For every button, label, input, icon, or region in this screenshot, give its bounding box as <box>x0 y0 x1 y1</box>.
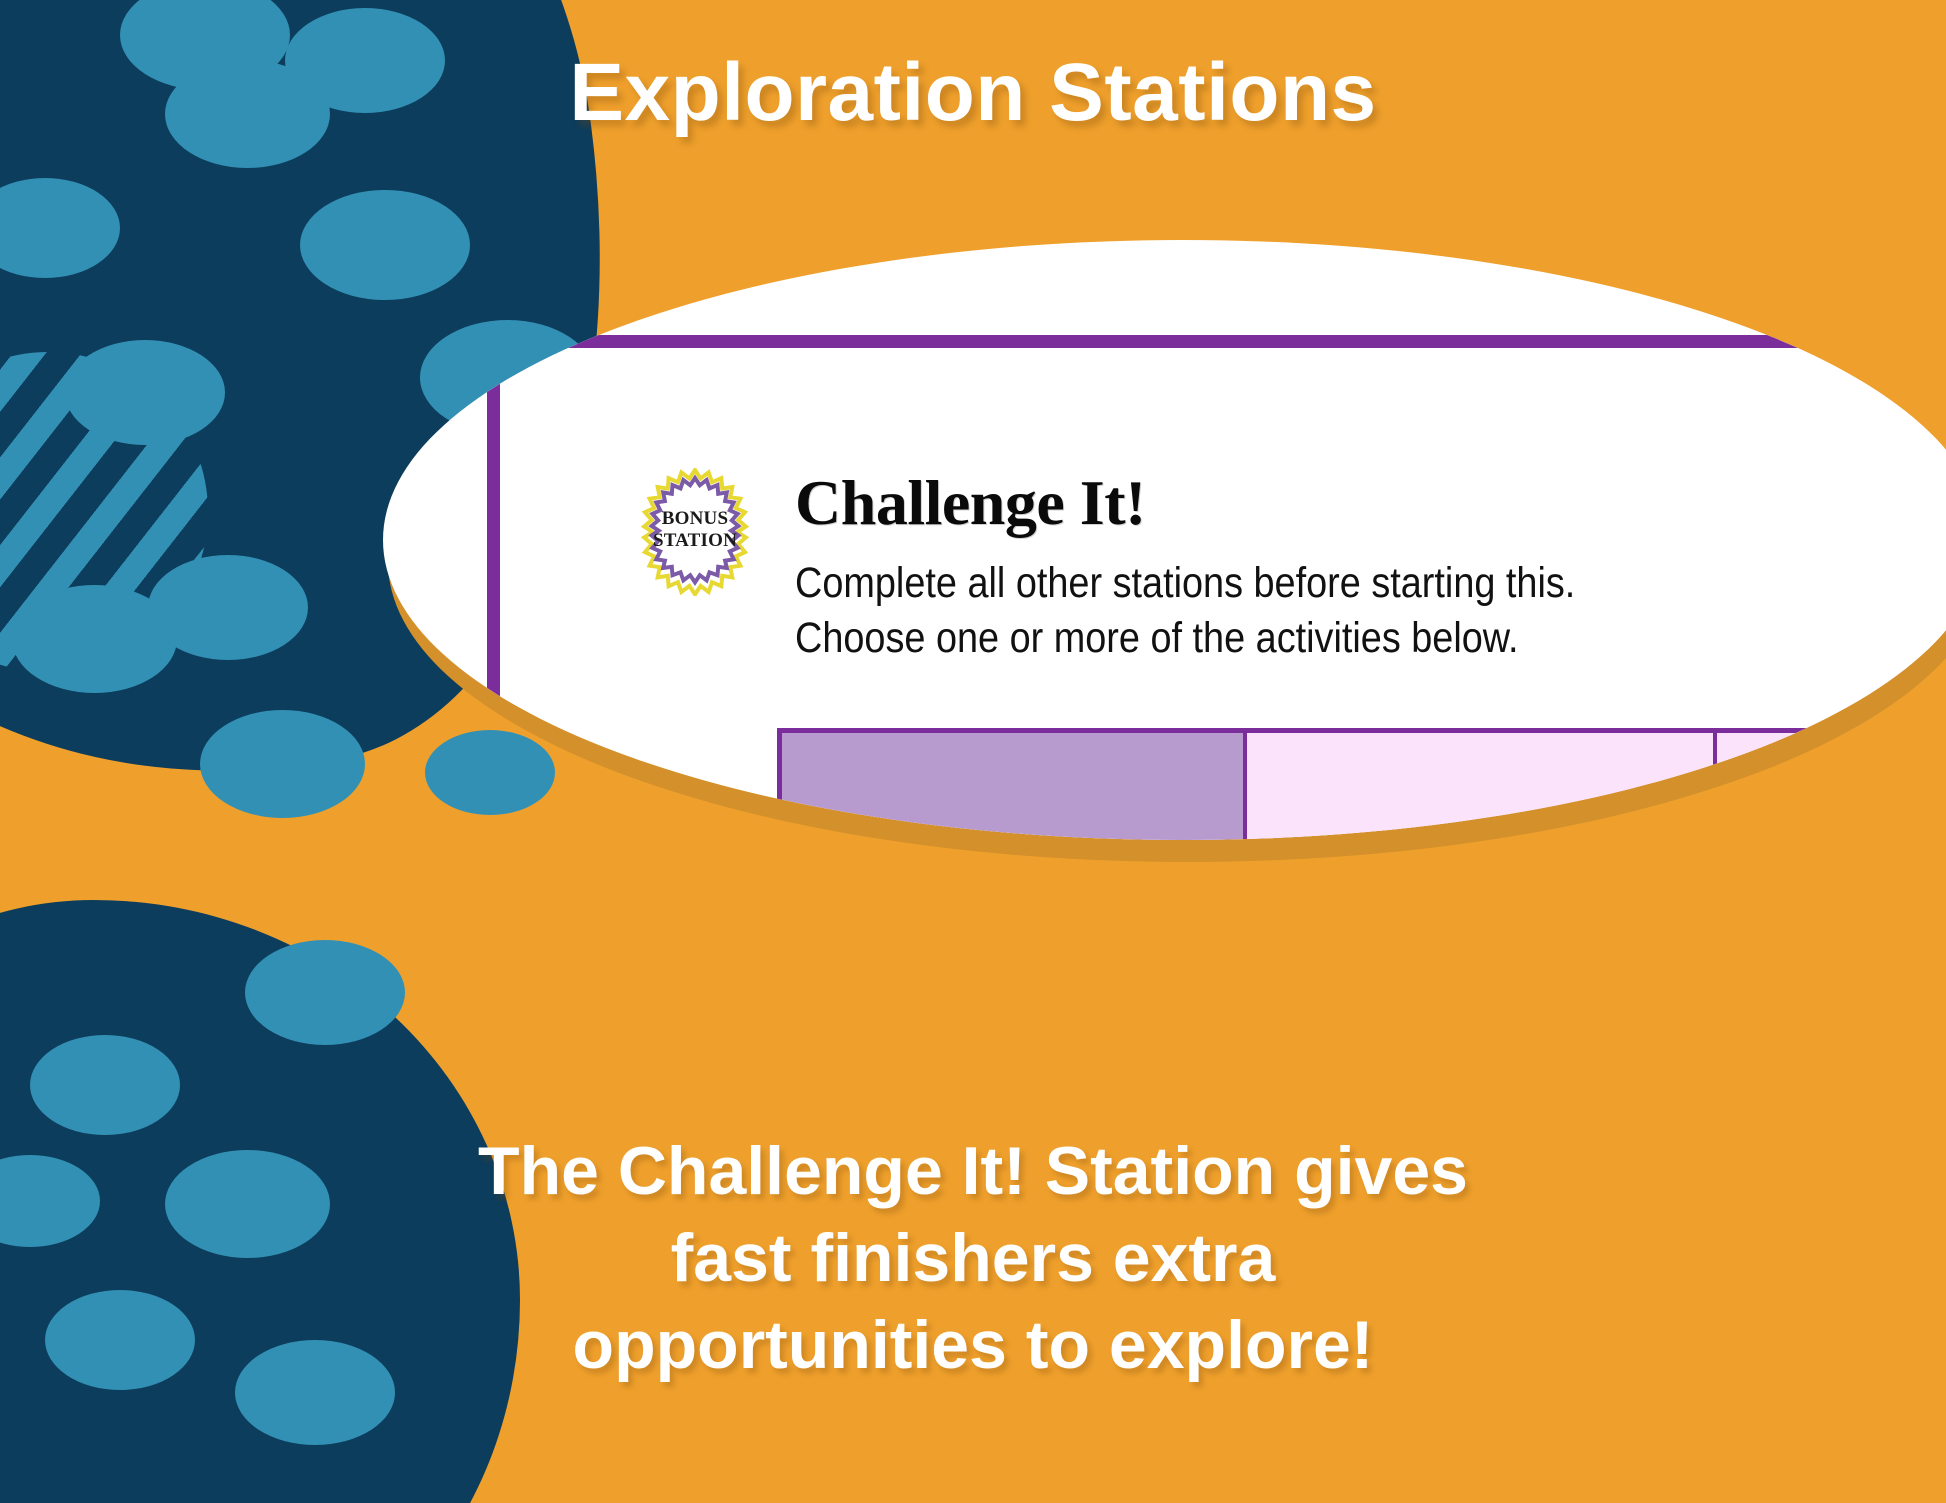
bonus-station-badge-icon: BONUS STATION <box>631 468 759 596</box>
decorative-dot <box>65 340 225 445</box>
worksheet-instructions: Complete all other stations before start… <box>795 556 1575 666</box>
worksheet-ellipse-mask: BONUS STATION Challenge It! Complete all… <box>383 240 1946 840</box>
decorative-dot <box>245 940 405 1045</box>
worksheet-content: BONUS STATION Challenge It! Complete all… <box>617 456 1946 840</box>
page-title: Exploration Stations <box>0 48 1946 138</box>
activity-button-row: PUZZLE FLASHCARDS <box>777 728 1946 840</box>
decorative-dot <box>235 1340 395 1445</box>
worksheet-card: BONUS STATION Challenge It! Complete all… <box>487 335 1946 840</box>
activity-link-flashcards[interactable]: FLASHCARDS <box>1294 838 1666 840</box>
instruction-line-2: Choose one or more of the activities bel… <box>795 611 1575 666</box>
activity-cell-third[interactable] <box>1717 728 1946 840</box>
slide-caption: The Challenge It! Station gives fast fin… <box>473 1128 1473 1389</box>
badge-text-block: BONUS STATION <box>631 508 759 552</box>
decorative-dot <box>300 190 470 300</box>
decorative-dot <box>45 1290 195 1390</box>
decorative-dot <box>165 1150 330 1258</box>
activity-link-puzzle[interactable]: PUZZLE <box>908 838 1118 840</box>
activity-cell-puzzle[interactable]: PUZZLE <box>777 728 1247 840</box>
decorative-dot <box>30 1035 180 1135</box>
decorative-dot <box>148 555 308 660</box>
badge-line-1: BONUS <box>631 508 759 530</box>
decorative-dot <box>200 710 365 818</box>
worksheet-heading: Challenge It! <box>795 466 1146 540</box>
activity-cell-flashcards[interactable]: FLASHCARDS <box>1247 728 1717 840</box>
slide-canvas: Exploration Stations BONUS STATION <box>0 0 1946 1503</box>
instruction-line-1: Complete all other stations before start… <box>795 556 1575 611</box>
badge-line-2: STATION <box>631 530 759 552</box>
